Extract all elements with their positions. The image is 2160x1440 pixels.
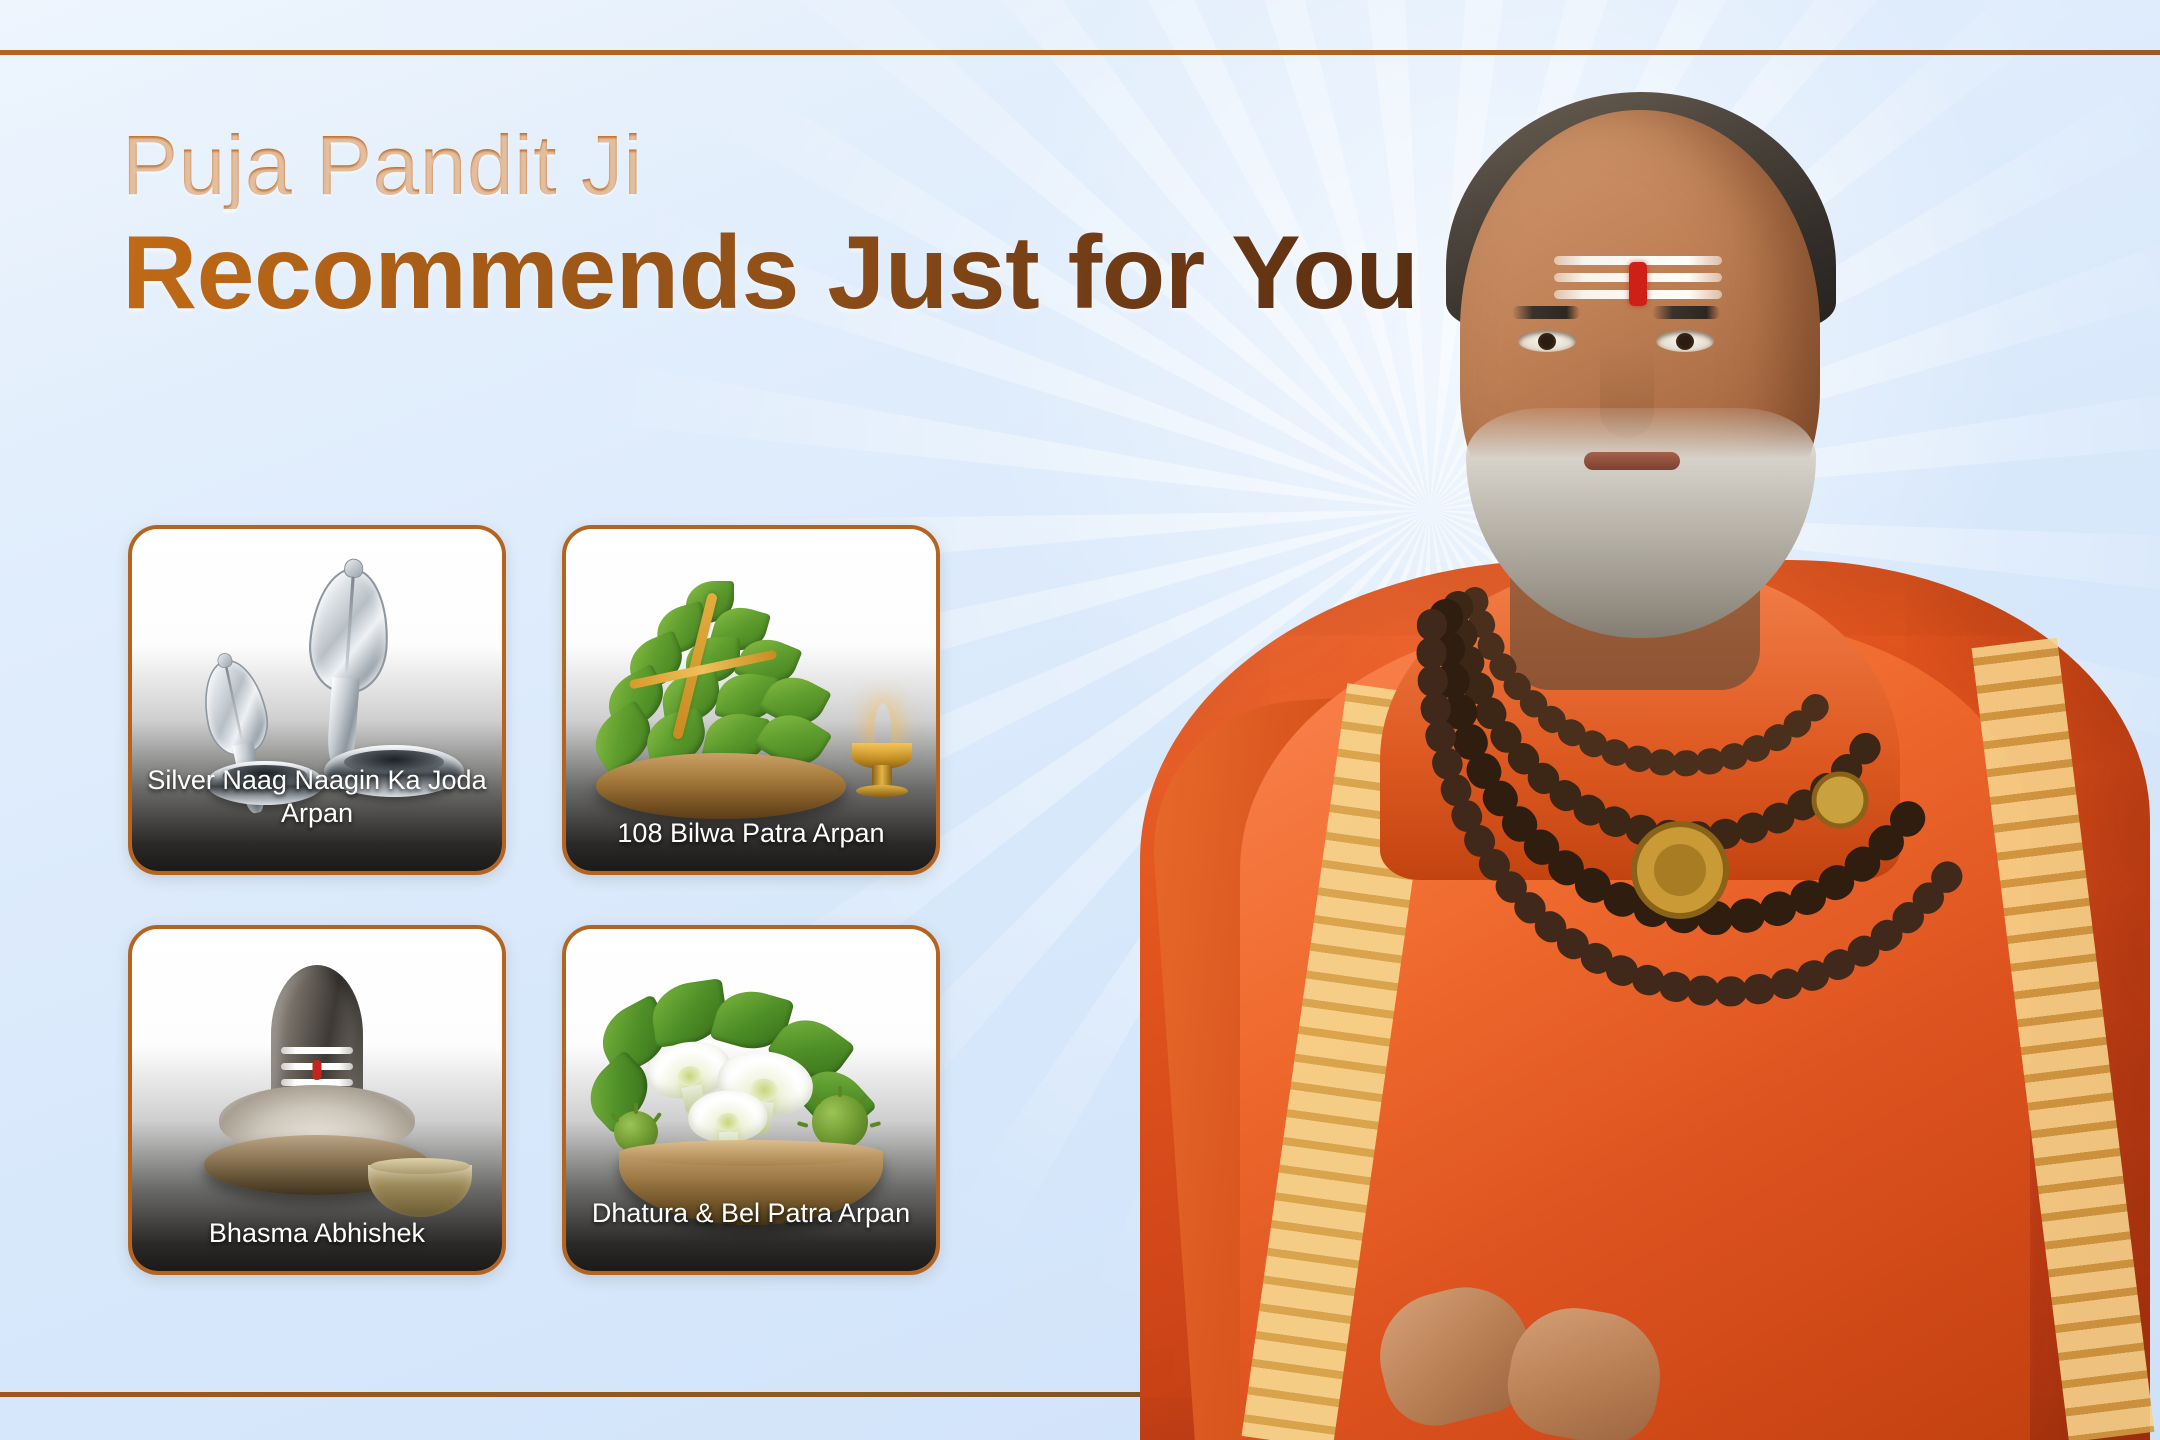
mouth: [1584, 452, 1680, 470]
puja-card-label: Dhatura & Bel Patra Arpan: [566, 1197, 936, 1251]
dhatura-fruit: [812, 1095, 868, 1149]
eye-left: [1518, 330, 1576, 352]
bilwa-leaf-stack: [594, 581, 826, 777]
pandit-portrait: [1080, 0, 2160, 1440]
naagin-figure: [195, 654, 274, 761]
puja-card-108-bilwa-patra[interactable]: 108 Bilwa Patra Arpan: [562, 525, 940, 875]
dhatura-arrangement: [566, 969, 936, 1227]
forehead-tripundra: [1554, 256, 1722, 300]
puja-card-bhasma-abhishek[interactable]: Bhasma Abhishek: [128, 925, 506, 1275]
brass-diya-lamp: [848, 695, 916, 791]
recommended-pujas-grid: Silver Naag Naagin Ka Joda Arpan: [128, 525, 940, 1275]
red-tilak-dot: [313, 1060, 322, 1080]
puja-card-silver-naag-naagin[interactable]: Silver Naag Naagin Ka Joda Arpan: [128, 525, 506, 875]
bottom-divider-rule: [0, 1392, 1170, 1397]
eyebrow-right: [1652, 306, 1720, 319]
bilwa-patra-arrangement: [566, 557, 936, 825]
eyebrow-left: [1512, 306, 1580, 319]
puja-card-label: Bhasma Abhishek: [132, 1217, 502, 1271]
puja-card-label: Silver Naag Naagin Ka Joda Arpan: [132, 764, 502, 851]
eye-right: [1656, 330, 1714, 352]
forehead-red-tilak: [1629, 262, 1647, 306]
shivling-arrangement: [132, 959, 502, 1229]
diya-flame: [874, 703, 892, 747]
bhasma-bowl: [368, 1165, 472, 1217]
promo-banner: Puja Pandit Ji Recommends Just for You S…: [0, 0, 2160, 1440]
naag-figure: [306, 565, 393, 695]
puja-card-dhatura-bel-patra[interactable]: Dhatura & Bel Patra Arpan: [562, 925, 940, 1275]
puja-card-label: 108 Bilwa Patra Arpan: [566, 817, 936, 871]
brass-plate: [596, 753, 846, 819]
